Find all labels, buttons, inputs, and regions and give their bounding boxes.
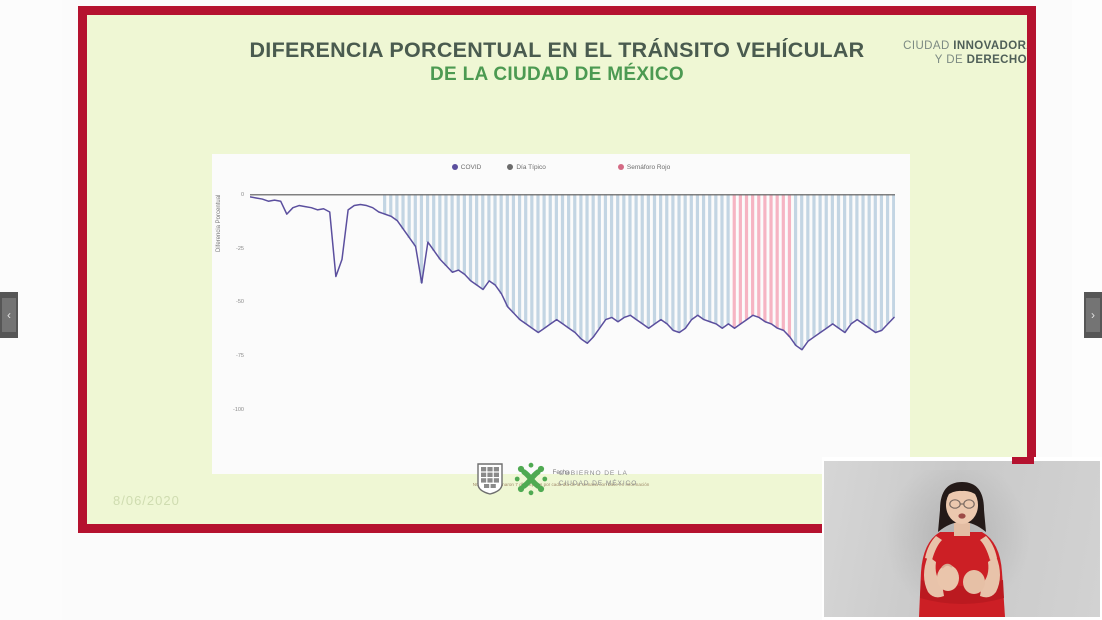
- plot-wrapper: Diferencia Porcentual 0-25-50-75-100 23/…: [212, 174, 910, 474]
- interpreter-red-tab: [1012, 457, 1034, 464]
- slide-red-frame: DIFERENCIA PORCENTUAL EN EL TRÁNSITO VEH…: [78, 6, 1036, 533]
- chevron-right-icon: ›: [1091, 309, 1095, 321]
- brand-word-yde: Y DE: [935, 54, 967, 66]
- y-axis-title: Diferencia Porcentual: [216, 195, 222, 252]
- brand-word-innovadora: INNOVADORA: [953, 40, 1027, 52]
- y-tick-label: -75: [224, 353, 244, 359]
- previous-slide-button[interactable]: ‹: [0, 292, 18, 338]
- gov-line-1: GOBIERNO DE LA: [559, 469, 638, 479]
- brand-word-ciudad: CIUDAD: [903, 40, 953, 52]
- brand-slogan-line-1: CIUDAD INNOVADORA: [903, 39, 1027, 53]
- coat-of-arms-icon: [477, 463, 503, 495]
- y-tick-label: -25: [224, 246, 244, 252]
- y-tick-label: 0: [224, 192, 244, 198]
- chart-legend: COVID Día Típico Semáforo Rojo: [212, 159, 910, 175]
- legend-label-semaforo-rojo: Semáforo Rojo: [627, 164, 670, 171]
- legend-label-dia-tipico: Día Típico: [516, 164, 546, 171]
- interpreter-video-frame: [824, 460, 1100, 617]
- chevron-left-icon: ‹: [7, 309, 11, 321]
- video-frame: ‹ › DIFERENCIA PORCENTUAL EN EL TRÁNSITO…: [0, 0, 1102, 620]
- government-wordmark: GOBIERNO DE LA CIUDAD DE MÉXICO: [559, 469, 638, 488]
- brand-slogan: CIUDAD INNOVADORA Y DE DERECHOS: [903, 39, 1027, 68]
- brand-word-derechos: DERECHOS: [967, 54, 1027, 66]
- cdmx-logo-icon: [514, 462, 548, 496]
- plot-area: [250, 184, 895, 410]
- legend-swatch-semaforo-rojo: [618, 164, 624, 170]
- title-line-2: DE LA CIUDAD DE MÉXICO: [87, 64, 1027, 87]
- next-slide-button[interactable]: ›: [1084, 292, 1102, 338]
- y-tick-label: -50: [224, 299, 244, 305]
- legend-item-semaforo-rojo: Semáforo Rojo: [618, 164, 670, 171]
- legend-swatch-dia-tipico: [507, 164, 513, 170]
- legend-swatch-covid: [452, 164, 458, 170]
- interpreter-top-stripe: [822, 457, 1102, 461]
- title-line-1: DIFERENCIA PORCENTUAL EN EL TRÁNSITO VEH…: [87, 38, 1027, 62]
- brand-slogan-line-2: Y DE DERECHOS: [903, 53, 1027, 67]
- legend-item-dia-tipico: Día Típico: [507, 164, 546, 171]
- y-tick-label: -100: [224, 407, 244, 413]
- gov-line-2: CIUDAD DE MÉXICO: [559, 479, 638, 489]
- chart-panel: COVID Día Típico Semáforo Rojo Diferenci…: [212, 154, 910, 474]
- slide-title: DIFERENCIA PORCENTUAL EN EL TRÁNSITO VEH…: [87, 38, 1027, 87]
- legend-label-covid: COVID: [461, 164, 482, 171]
- slide-canvas: DIFERENCIA PORCENTUAL EN EL TRÁNSITO VEH…: [87, 15, 1027, 524]
- sign-language-interpreter-video[interactable]: [822, 457, 1102, 620]
- traffic-difference-chart: [250, 184, 895, 410]
- legend-item-covid: COVID: [452, 164, 482, 171]
